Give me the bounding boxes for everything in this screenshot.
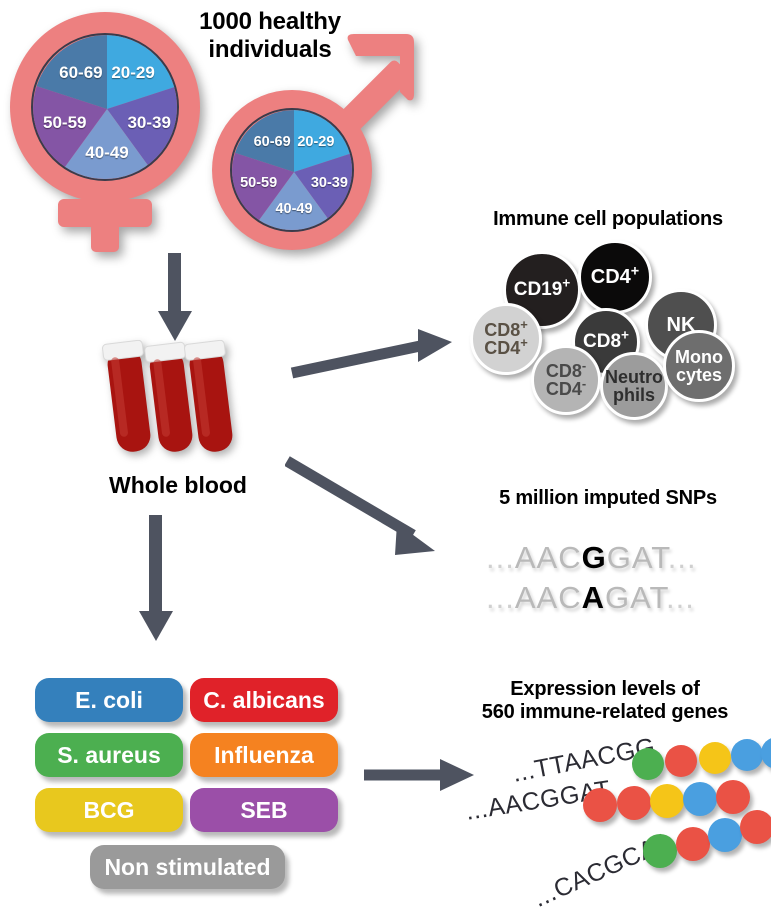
stimulus-pill-e-coli[interactable]: E. coli [35,678,183,722]
expression-bead [650,784,684,818]
immune-cell-cd8-cd4: CD8+CD4+ [470,303,542,375]
snp-ellipsis-right-2: ... [666,580,695,615]
expression-bead [731,739,763,771]
immune-cell-label: Neutrophils [605,368,663,405]
whole-blood-label: Whole blood [88,472,268,499]
expression-bead [643,834,677,868]
expression-bead [699,742,731,774]
snp-variant-1: G [582,540,607,575]
pie-label-60-69: 60-69 [59,63,102,83]
stimulus-pill-bcg[interactable]: BCG [35,788,183,832]
stimulus-pill-s-aureus[interactable]: S. aureus [35,733,183,777]
arrow-stimuli-to-expression [362,755,477,795]
expression-bead [583,788,617,822]
immune-cell-cd8: CD8+ [572,308,640,376]
snp-ellipsis-left-1: ... [486,540,515,575]
immune-cell-label: Monocytes [675,348,723,385]
immune-cell-label: CD19+ [514,280,571,299]
snp-ellipsis-right-1: ... [668,540,697,575]
immune-cell-label: NK [667,315,696,335]
expression-bead [761,737,771,769]
immune-cell-cd4: CD4+ [578,240,652,314]
pie-label-20-29: 20-29 [111,63,154,83]
stimulus-pill-c-albicans[interactable]: C. albicans [190,678,338,722]
female-symbol: 20-2930-3940-4950-5960-69 [10,12,200,252]
pie-label-30-39: 30-39 [127,113,170,133]
male-arrowhead [330,30,420,120]
blood-tubes [98,340,238,460]
arrow-blood-to-snp [285,455,450,565]
expression-bead [632,748,664,780]
female-age-pie: 20-2930-3940-4950-5960-69 [31,33,179,181]
immune-cell-label: CD8+CD4+ [484,321,528,358]
pie-label-30-39: 30-39 [311,175,348,191]
immune-cell-cd19: CD19+ [503,251,581,329]
immune-title: Immune cell populations [452,208,764,231]
expression-bead [665,745,697,777]
male-symbol: 20-2930-3940-4950-5960-69 [200,30,420,240]
pie-label-40-49: 40-49 [275,201,312,217]
expression-title-line-2: 560 immune-related genes [442,701,768,724]
arrow-blood-to-immune [290,325,455,385]
stimulus-pill-influenza[interactable]: Influenza [190,733,338,777]
snp-variant-2: A [582,580,605,615]
immune-cell-label: CD8-CD4- [546,362,586,399]
immune-cell-cd8-cd4: CD8-CD4- [531,345,601,415]
snp-sequence-row-1: ...AACGGAT... [486,540,697,576]
expression-title: Expression levels of 560 immune-related … [442,678,768,724]
snp-ellipsis-left-2: ... [486,580,515,615]
arrow-blood-to-stimuli [133,515,179,645]
expression-bead [716,780,750,814]
arrow-cohort-to-blood [152,253,198,343]
snp-title: 5 million imputed SNPs [452,487,764,510]
pie-label-50-59: 50-59 [240,175,277,191]
expression-bead [740,810,771,844]
immune-cell-nk: NK [645,289,717,361]
male-age-pie: 20-2930-3940-4950-5960-69 [230,108,354,232]
stimulus-pill-seb[interactable]: SEB [190,788,338,832]
expression-bead [617,786,651,820]
pie-label-40-49: 40-49 [85,143,128,163]
expression-bead [708,818,742,852]
snp-prefix-2: AAC [515,580,582,615]
pie-label-60-69: 60-69 [254,134,291,150]
female-stem-horizontal [58,199,152,227]
figure-canvas: 1000 healthy individuals 20-2930-3940-49… [0,0,771,922]
snp-sequence-row-2: ...AACAGAT... [486,580,695,616]
immune-cell-neutro-phils: Neutrophils [600,352,668,420]
snp-suffix-2: GAT [605,580,666,615]
expression-bead [676,827,710,861]
expression-bead [683,782,717,816]
immune-cell-label: CD4+ [591,267,639,287]
stimulus-pill-non-stimulated[interactable]: Non stimulated [90,845,285,889]
pie-label-20-29: 20-29 [297,134,334,150]
snp-suffix-1: GAT [607,540,668,575]
immune-cell-mono-cytes: Monocytes [663,330,735,402]
snp-prefix-1: AAC [515,540,582,575]
pie-label-50-59: 50-59 [43,113,86,133]
immune-cell-label: CD8+ [583,332,629,351]
expression-title-line-1: Expression levels of [442,678,768,701]
